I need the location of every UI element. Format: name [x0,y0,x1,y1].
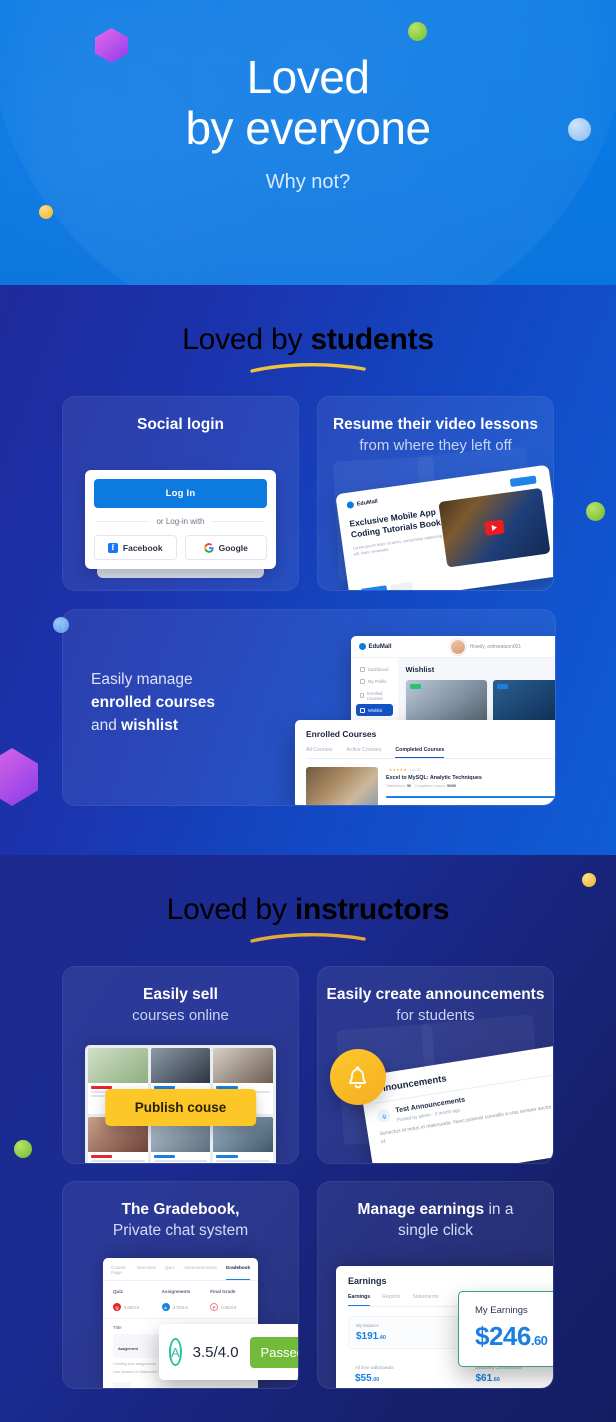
hero-section: Loved by everyone Why not? [0,0,616,285]
cell-lines [151,1152,211,1164]
wishlist-heading: Wishlist [406,665,557,674]
mock-top-button [510,475,537,487]
instructors-heading-normal: Loved by [167,893,295,926]
facebook-icon: f [108,543,118,553]
course-meta: Total lesson: 50 Completed Lesson: 50/50 [386,784,556,788]
my-earnings-cents: .60 [531,1333,548,1348]
tab-course-page[interactable]: Course Page [111,1265,128,1280]
card-manage-courses-text: Easily manage enrolled courses and wishl… [91,668,281,737]
card-earnings-title: Manage earnings in a single click [318,1182,553,1241]
progress-bar [386,796,556,798]
heart-icon [360,708,365,713]
dashboard-topbar: EduMall Howdy, edmwatson001 [351,636,556,658]
tab-statements[interactable]: Statements [412,1294,438,1306]
stat-value: $191.40 [356,1331,453,1342]
course-thumbnail [493,680,557,722]
course-rating: ★★★★★(4.00) [386,767,556,772]
user-icon [360,679,365,684]
gradebook-columns: Quiz Assignments Final Grade [103,1281,258,1299]
sidebar-item-label: My Profile [368,679,387,684]
row-tag-label: Assignment [118,1347,138,1351]
tab-earnings[interactable]: Earnings [348,1294,370,1306]
hero-title-line2: by everyone [185,102,430,154]
hero-title-line1: Loved [247,51,370,103]
course-title: Excel to MySQL: Analytic Techniques [386,775,556,781]
stat-value-main: $55 [355,1373,372,1384]
dashboard-username: Howdy, edmwatson001 [470,644,522,650]
stat-label: All time withdrawals [355,1365,454,1370]
tab-gradebook[interactable]: Gradebook [226,1265,250,1280]
brand-name: EduMall [356,498,378,507]
card-easily-sell[interactable]: Easily sell courses online Publish couse [62,966,299,1164]
total-lesson-value: 50 [407,784,411,788]
earnings-title-thin: in a [484,1201,513,1218]
stat-value-cents: .00 [372,1377,380,1383]
my-earnings-amount: $246 [475,1321,531,1351]
brand-logo-icon [359,643,366,650]
card-announcements-title: Easily create announcements [318,967,553,1005]
discount-badge [410,684,421,689]
my-earnings-label: My Earnings [475,1305,554,1316]
card-easily-sell-subtitle: courses online [63,1005,298,1026]
my-earnings-value: $246.60 [475,1321,554,1352]
stat-value-main: $61 [476,1373,493,1384]
mock-secondary-button [390,582,413,591]
play-icon [484,519,505,536]
tab-all-courses[interactable]: All Courses [306,747,333,753]
quiz-score-ring: Q [113,1303,121,1311]
cell-lines [88,1152,148,1164]
card-gradebook-title: The Gradebook, Private chat system [63,1182,298,1241]
quiz-score: 0.00/4.0 [124,1305,139,1310]
instructors-cards: Easily sell courses online Publish couse… [0,966,616,1389]
login-box-mock: Log In or Log-in with f Facebook [85,470,276,569]
progress-bar-wrap: Completed [386,795,556,799]
gradebook-tabs: Course Page Overview Q&A Announcements G… [103,1258,258,1281]
mock-video-thumbnail [438,488,550,568]
gradebook-title-bold: The Gradebook, [122,1201,240,1218]
completed-lesson-label: Completed Lesson: [415,784,446,788]
avatar [450,639,466,655]
final-grade-ring: F [210,1303,218,1311]
cell-image [88,1048,148,1083]
enrolled-tabs: All Courses Active Courses Completed Cou… [306,747,556,759]
course-stars: ★★★★★ [389,768,407,772]
brand-logo-icon [346,501,354,509]
enrolled-course-row[interactable]: ★★★★★(4.00) Excel to MySQL: Analytic Tec… [306,767,556,806]
grade-letter-ring: A [169,1338,182,1366]
manage-line1: Easily manage [91,668,281,691]
stat-value: $61.60 [476,1373,555,1384]
value-assignments: A3.75/4.0 [162,1303,211,1311]
publish-course-button[interactable]: Publish couse [105,1089,257,1126]
stat-my-balance: My Balance $191.40 [348,1316,461,1349]
instructors-heading: Loved by instructors [167,893,450,927]
final-grade-score: 0.00/4.0 [221,1305,236,1310]
sidebar-item-dashboard[interactable]: Dashboard [356,664,393,676]
grade-score: 3.5/4.0 [193,1344,239,1361]
tab-active-courses[interactable]: Active Courses [347,747,382,753]
card-manage-courses[interactable]: Easily manage enrolled courses and wishl… [62,609,556,806]
log-in-button[interactable]: Log In [94,479,267,508]
sidebar-item-label: Dashboard [368,667,389,672]
card-easily-sell-title: Easily sell [63,967,298,1005]
sidebar-item-label: Enrolled Courses [367,691,389,701]
manage-line2: enrolled courses [91,691,281,714]
divider-line-left [96,521,149,522]
assignment-score: 3.75/4.0 [173,1305,188,1310]
grade-popup: A 3.5/4.0 Passed [159,1324,299,1380]
instructors-heading-wrap: Loved by instructors [0,855,616,944]
sidebar-item-enrolled-courses[interactable]: Enrolled Courses [356,688,393,705]
students-heading: Loved by students [182,323,434,357]
earnings-subtitle: single click [398,1222,473,1239]
heading-underline-icon [248,932,368,944]
cell-image [213,1048,273,1083]
card-gradebook[interactable]: The Gradebook, Private chat system Cours… [62,1181,299,1389]
tab-completed-courses[interactable]: Completed Courses [395,747,444,758]
discount-badge [497,684,508,689]
cell-image [151,1048,211,1083]
stat-label: My Balance [356,1323,453,1328]
enrolled-courses-mock: Enrolled Courses All Courses Active Cour… [295,720,556,806]
dashboard-icon [360,667,365,672]
card-social-login-title: Social login [63,397,298,435]
sidebar-item-label: Wishlist [368,708,382,713]
dashboard-brand: EduMall [359,643,392,650]
value-quiz: Q0.00/4.0 [113,1303,162,1311]
heading-underline-icon [248,362,368,374]
row2-tag: Quiz [113,1382,131,1388]
column-final-grade: Final Grade [210,1289,248,1294]
column-assignments: Assignments [162,1289,211,1294]
google-icon [204,543,214,553]
announcement-bell-icon [376,1109,391,1124]
gradebook-values: Q0.00/4.0 A3.75/4.0 F0.00/4.0 [103,1299,258,1319]
cell-lines [213,1152,273,1164]
bell-icon [330,1049,386,1105]
tab-overview[interactable]: Overview [137,1265,156,1280]
course-thumbnail [406,680,487,722]
students-heading-normal: Loved by [182,323,310,356]
completed-lesson-value: 50/50 [447,784,456,788]
facebook-label: Facebook [123,543,163,553]
stat-all-time-withdrawals: All time withdrawals $55.00 [348,1359,461,1388]
google-login-button[interactable]: Google [185,535,268,560]
tab-announcements[interactable]: Announcements [184,1265,217,1280]
value-final-grade: F0.00/4.0 [210,1303,248,1311]
enrolled-heading: Enrolled Courses [306,729,556,739]
students-heading-accent: students [310,323,433,356]
google-label: Google [219,543,248,553]
students-heading-wrap: Loved by students [0,285,616,374]
book-icon [360,693,364,698]
card-earnings[interactable]: Manage earnings in a single click Earnin… [317,1181,554,1389]
stat-value-cents: .40 [378,1335,386,1341]
divider-line-right [212,521,265,522]
mock-primary-button [361,585,388,591]
manage-line3: and wishlist [91,714,281,737]
sidebar-item-my-profile[interactable]: My Profile [356,676,393,688]
my-earnings-popup: My Earnings $246.60 [458,1291,554,1367]
grade-status-badge: Passed [250,1337,299,1368]
page-title: Loved by everyone [0,52,616,154]
course-rating-text: (4.00) [410,768,422,772]
tab-reports[interactable]: Reports [382,1294,400,1306]
stat-value-cents: .60 [492,1377,500,1383]
manage-line3-thin: and [91,717,121,734]
login-divider: or Log-in with [96,517,265,526]
dashboard-user[interactable]: Howdy, edmwatson001 [450,639,522,655]
assignment-score-ring: A [162,1303,170,1311]
facebook-login-button[interactable]: f Facebook [94,535,177,560]
column-quiz: Quiz [113,1289,162,1294]
sidebar-item-wishlist[interactable]: Wishlist [356,704,393,716]
hero-subtitle: Why not? [0,171,616,194]
yellow-dot-icon [39,205,53,219]
social-buttons-row: f Facebook [94,535,267,560]
landing-page: Loved by everyone Why not? Loved by stud… [0,0,616,1422]
card-announcements[interactable]: Easily create announcements for students… [317,966,554,1164]
students-cards: Social login Log In or Log-in with f Fac… [0,396,616,806]
students-section: Loved by students Social login Log In or… [0,285,616,855]
earnings-heading: Earnings [348,1276,554,1286]
manage-line3-bold: wishlist [121,717,178,734]
tab-qa[interactable]: Q&A [165,1265,175,1280]
gradebook-title-thin: Private chat system [113,1222,248,1239]
login-divider-text: or Log-in with [156,517,204,526]
stat-value: $55.00 [355,1373,454,1384]
total-lesson-label: Total lesson: [386,784,406,788]
card-social-login[interactable]: Social login Log In or Log-in with f Fac… [62,396,299,591]
course-thumbnail [306,767,378,806]
stat-value-main: $191 [356,1331,378,1342]
card-video-lessons[interactable]: Resume their video lessons from where th… [317,396,554,591]
instructors-section: Loved by instructors Easily sell courses… [0,855,616,1422]
instructors-heading-accent: instructors [295,893,450,926]
card-video-lessons-title: Resume their video lessons [318,397,553,435]
enrolled-course-info: ★★★★★(4.00) Excel to MySQL: Analytic Tec… [386,767,556,806]
brand-name: EduMall [369,644,392,650]
earnings-title-bold: Manage earnings [358,1201,485,1218]
